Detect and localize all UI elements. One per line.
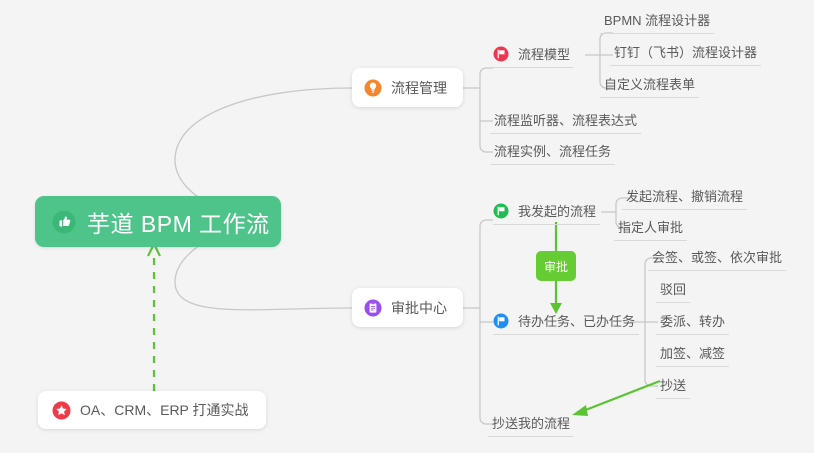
thumbs-up-icon <box>52 210 76 234</box>
sub-node-daibanrenwu[interactable]: 待办任务、已办任务 <box>493 310 639 335</box>
leaf-node-weipai-zhuanban[interactable]: 委派、转办 <box>656 310 729 335</box>
annotation-tag-shenpi-label: 审批 <box>544 258 568 275</box>
leaf-node-bpmn-designer[interactable]: BPMN 流程设计器 <box>600 9 714 34</box>
leaf-label-faqi-chexiao: 发起流程、撤销流程 <box>626 186 743 205</box>
star-icon <box>52 401 71 420</box>
sub-label-liuchengjiantingqi: 流程监听器、流程表达式 <box>494 110 637 129</box>
arrow-chaosong <box>583 381 660 411</box>
leaf-label-zhidingren-shenpi: 指定人审批 <box>618 217 683 236</box>
branch-label-liuchengguanli: 流程管理 <box>391 78 447 98</box>
sub-label-liuchengshili: 流程实例、流程任务 <box>494 141 611 160</box>
branch-label-shenpizhongxin: 审批中心 <box>391 298 447 318</box>
floating-label-oacrm: OA、CRM、ERP 打通实战 <box>80 400 249 420</box>
lightbulb-icon <box>364 79 382 97</box>
arrowhead-chaosong <box>572 405 588 416</box>
leaf-label-huiqian: 会签、或签、依次审批 <box>652 247 782 266</box>
root-node[interactable]: 芋道 BPM 工作流 <box>35 196 281 247</box>
leaf-label-bpmn-designer: BPMN 流程设计器 <box>604 10 710 29</box>
leaf-label-custom-form: 自定义流程表单 <box>604 74 695 93</box>
leaf-node-dingtalk-designer[interactable]: 钉钉（飞书）流程设计器 <box>610 41 761 66</box>
mindmap-canvas: 芋道 BPM 工作流 流程管理 审批中心 <box>0 0 814 453</box>
leaf-node-jiaqian-jianqian[interactable]: 加签、减签 <box>656 342 729 367</box>
leaf-node-bohui[interactable]: 驳回 <box>656 278 690 303</box>
sub-label-liuchengmoxing: 流程模型 <box>518 44 570 63</box>
sub-label-wofaqide: 我发起的流程 <box>518 201 596 220</box>
flag-icon-blue <box>493 313 509 329</box>
sub-node-chaosongwode[interactable]: 抄送我的流程 <box>488 412 574 437</box>
sub-node-wofaqide[interactable]: 我发起的流程 <box>493 200 600 225</box>
sub-node-liuchengmoxing[interactable]: 流程模型 <box>493 43 574 68</box>
branch-node-shenpizhongxin[interactable]: 审批中心 <box>352 288 463 327</box>
leaf-node-zhidingren-shenpi[interactable]: 指定人审批 <box>614 216 687 241</box>
sub-node-liuchengshili[interactable]: 流程实例、流程任务 <box>490 140 615 165</box>
leaf-node-huiqian[interactable]: 会签、或签、依次审批 <box>648 246 786 271</box>
leaf-label-bohui: 驳回 <box>660 279 686 298</box>
leaf-node-custom-form[interactable]: 自定义流程表单 <box>600 73 699 98</box>
root-label: 芋道 BPM 工作流 <box>87 205 270 239</box>
leaf-label-jiaqian-jianqian: 加签、减签 <box>660 343 725 362</box>
leaf-label-dingtalk-designer: 钉钉（飞书）流程设计器 <box>614 42 757 61</box>
floating-node-oacrm[interactable]: OA、CRM、ERP 打通实战 <box>38 391 266 429</box>
branch-node-liuchengguanli[interactable]: 流程管理 <box>352 68 463 107</box>
sub-node-liuchengjiantingqi[interactable]: 流程监听器、流程表达式 <box>490 109 641 134</box>
sub-label-daibanrenwu: 待办任务、已办任务 <box>518 311 635 330</box>
annotation-tag-shenpi[interactable]: 审批 <box>536 251 576 281</box>
clipboard-icon <box>364 299 382 317</box>
leaf-label-chaosong: 抄送 <box>660 375 686 394</box>
flag-icon-red <box>493 46 509 62</box>
bracket-shenpizhongxin <box>480 220 493 424</box>
leaf-node-chaosong[interactable]: 抄送 <box>656 374 690 399</box>
sub-label-chaosongwode: 抄送我的流程 <box>492 413 570 432</box>
flag-icon-green <box>493 203 509 219</box>
leaf-label-weipai-zhuanban: 委派、转办 <box>660 311 725 330</box>
leaf-node-faqi-chexiao[interactable]: 发起流程、撤销流程 <box>622 185 747 210</box>
